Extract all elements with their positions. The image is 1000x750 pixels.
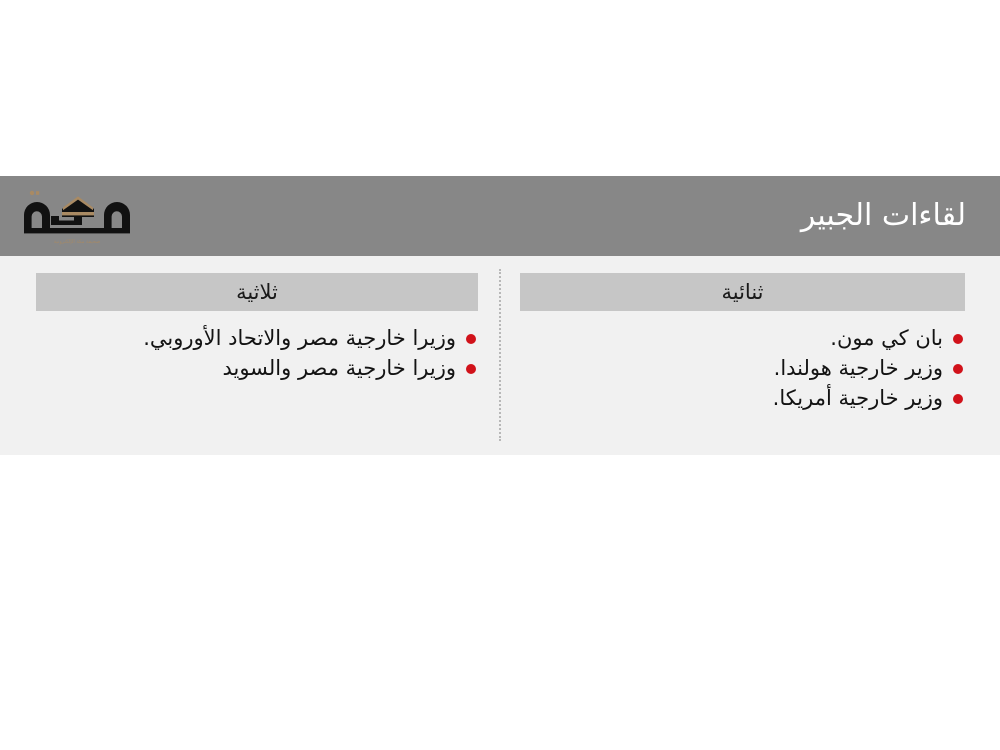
column-heading-trilateral: ثلاثية	[36, 273, 478, 311]
header-band: لقاءات الجبير صحيفة مكة الإل	[0, 176, 1000, 256]
list-item: وزيرا خارجية مصر والاتحاد الأوروبي.	[36, 323, 478, 353]
makkah-newspaper-logo: صحيفة مكة الإلكترونية	[18, 187, 136, 245]
bullet-dot-icon	[466, 334, 476, 344]
bullet-dot-icon	[953, 364, 963, 374]
bullet-dot-icon	[466, 364, 476, 374]
list-item-label: وزير خارجية هولندا.	[774, 356, 943, 380]
list-item-label: وزيرا خارجية مصر والسويد	[222, 356, 456, 380]
column-bilateral: ثنائية بان كي مون. وزير خارجية هولندا. و…	[500, 273, 1000, 455]
bullet-list-trilateral: وزيرا خارجية مصر والاتحاد الأوروبي. وزير…	[36, 311, 478, 383]
list-item-label: وزيرا خارجية مصر والاتحاد الأوروبي.	[143, 326, 456, 350]
bullet-list-bilateral: بان كي مون. وزير خارجية هولندا. وزير خار…	[520, 311, 965, 413]
list-item: وزيرا خارجية مصر والسويد	[36, 353, 478, 383]
list-item: وزير خارجية أمريكا.	[520, 383, 965, 413]
page-title: لقاءات الجبير	[801, 201, 966, 231]
bullet-dot-icon	[953, 334, 963, 344]
list-item: وزير خارجية هولندا.	[520, 353, 965, 383]
list-item-label: بان كي مون.	[830, 326, 943, 350]
bullet-dot-icon	[953, 394, 963, 404]
list-item: بان كي مون.	[520, 323, 965, 353]
list-item-label: وزير خارجية أمريكا.	[773, 386, 943, 410]
infographic-container: لقاءات الجبير صحيفة مكة الإل	[0, 176, 1000, 455]
column-trilateral: ثلاثية وزيرا خارجية مصر والاتحاد الأوروب…	[0, 273, 500, 455]
kaaba-logo-icon	[18, 187, 136, 239]
content-panel: ثنائية بان كي مون. وزير خارجية هولندا. و…	[0, 256, 1000, 455]
logo-tagline: صحيفة مكة الإلكترونية	[20, 239, 134, 245]
column-heading-bilateral: ثنائية	[520, 273, 965, 311]
